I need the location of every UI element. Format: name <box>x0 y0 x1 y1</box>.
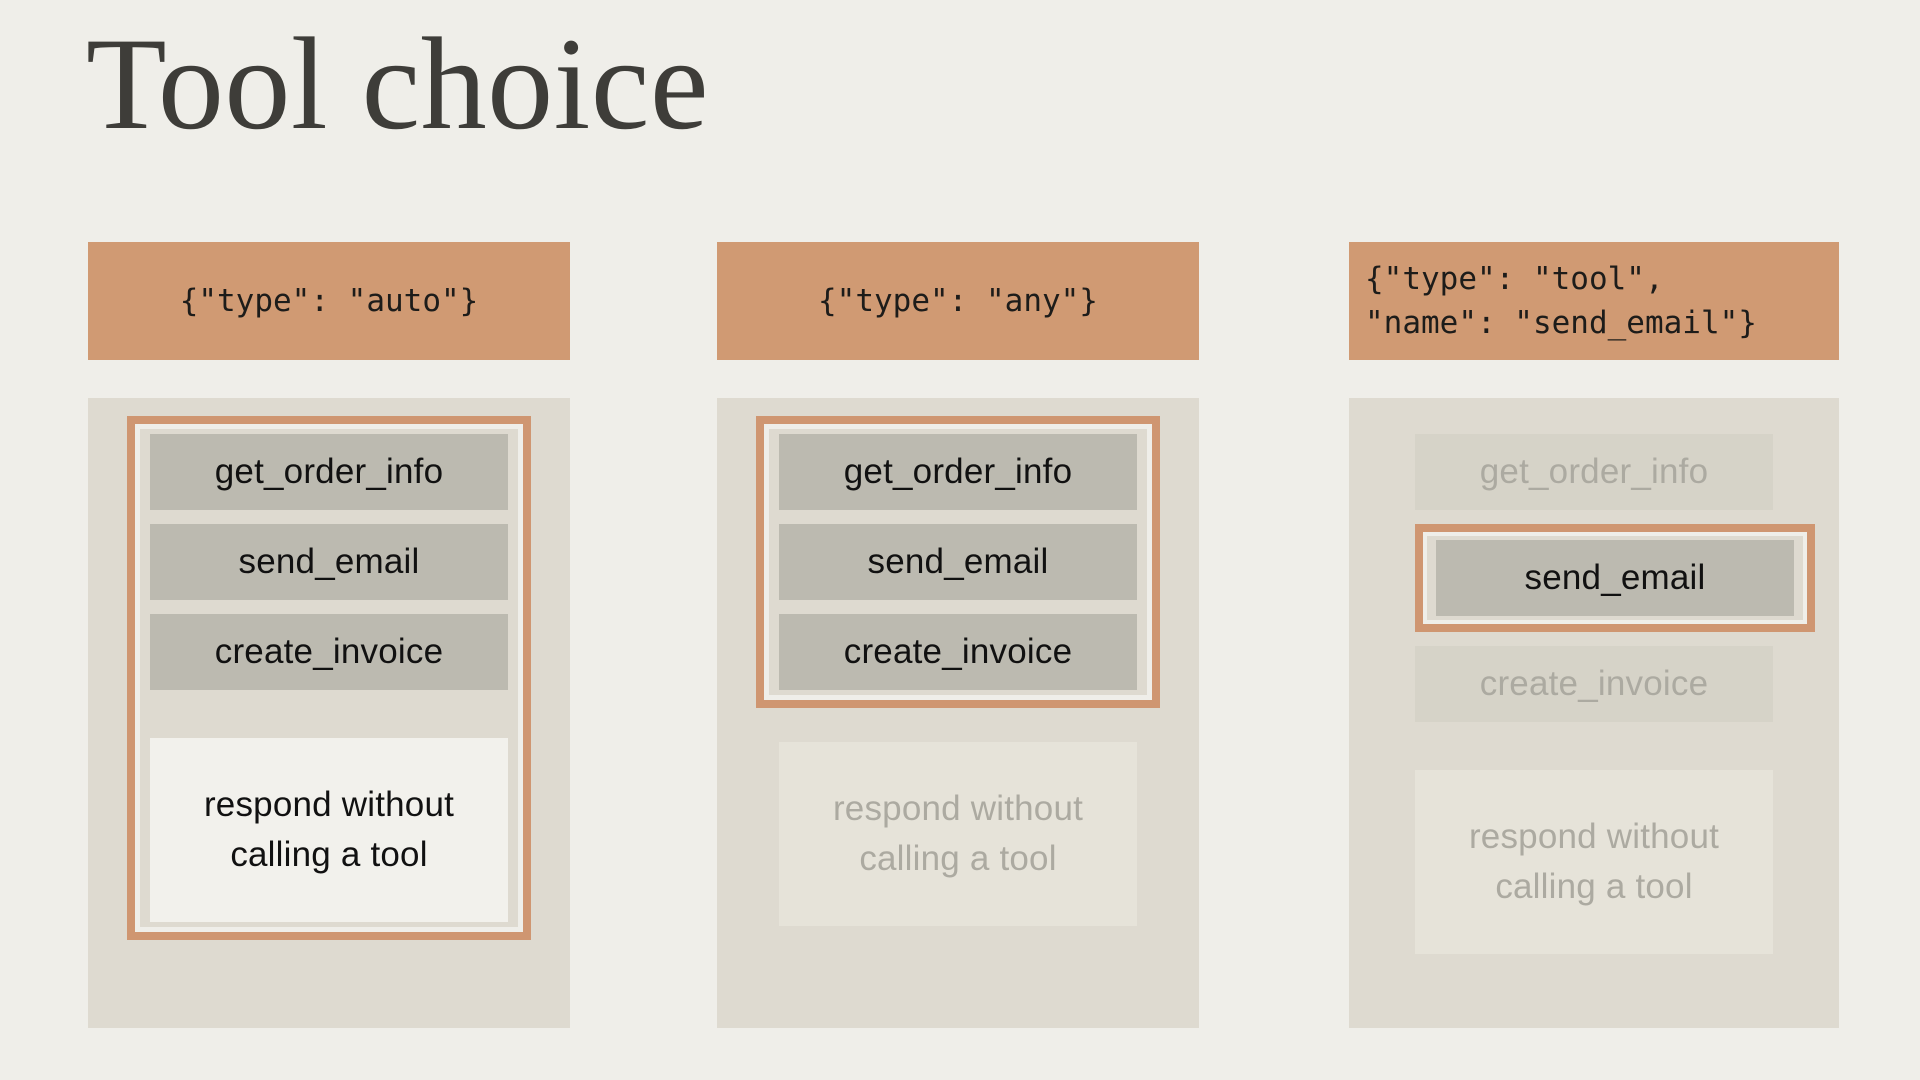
column-tool-header: {"type": "tool", "name": "send_email"} <box>1349 242 1839 360</box>
tool-chip-create-invoice[interactable]: create_invoice <box>150 614 508 690</box>
respond-without-tool-box[interactable]: respond without calling a tool <box>150 738 508 922</box>
tool-chip-send-email[interactable]: send_email <box>779 524 1137 600</box>
column-any-header-line-1: {"type": "any"} <box>818 279 1098 323</box>
page-title: Tool choice <box>86 18 709 150</box>
tool-chip-create-invoice[interactable]: create_invoice <box>779 614 1137 690</box>
column-auto-panel: get_order_info send_email create_invoice… <box>88 398 570 1028</box>
tool-choice-columns: {"type": "auto"} get_order_info send_ema… <box>0 242 1920 1042</box>
tool-chip-send-email[interactable]: send_email <box>1436 540 1794 616</box>
column-any: {"type": "any"} get_order_info send_emai… <box>717 242 1199 1028</box>
tool-chip-get-order-info[interactable]: get_order_info <box>779 434 1137 510</box>
respond-without-tool-box: respond without calling a tool <box>779 742 1137 926</box>
spacer <box>1415 736 1773 770</box>
column-any-header: {"type": "any"} <box>717 242 1199 360</box>
tool-chip-send-email[interactable]: send_email <box>150 524 508 600</box>
column-tool-panel: get_order_info send_email create_invoice… <box>1349 398 1839 1028</box>
column-tool: {"type": "tool", "name": "send_email"} g… <box>1349 242 1839 1028</box>
respond-line-2: calling a tool <box>859 834 1056 884</box>
tool-chip-get-order-info: get_order_info <box>1415 434 1773 510</box>
spacer <box>1415 632 1773 646</box>
respond-line-1: respond without <box>833 784 1083 834</box>
column-tool-highlight-ring: send_email <box>1415 524 1815 632</box>
respond-without-tool-box: respond without calling a tool <box>1415 770 1773 954</box>
respond-line-2: calling a tool <box>1495 862 1692 912</box>
respond-line-1: respond without <box>1469 812 1719 862</box>
column-auto: {"type": "auto"} get_order_info send_ema… <box>88 242 570 1028</box>
spacer <box>150 704 508 738</box>
respond-line-1: respond without <box>204 780 454 830</box>
column-any-highlight-ring: get_order_info send_email create_invoice <box>756 416 1160 708</box>
tool-chip-get-order-info[interactable]: get_order_info <box>150 434 508 510</box>
column-auto-header-line-1: {"type": "auto"} <box>180 279 479 323</box>
respond-line-2: calling a tool <box>230 830 427 880</box>
column-tool-list: get_order_info send_email create_invoice… <box>1392 416 1796 972</box>
column-tool-header-line-1: {"type": "tool", <box>1365 257 1664 301</box>
spacer <box>717 708 1199 742</box>
column-auto-header: {"type": "auto"} <box>88 242 570 360</box>
column-any-panel: get_order_info send_email create_invoice… <box>717 398 1199 1028</box>
column-tool-header-line-2: "name": "send_email"} <box>1365 301 1757 345</box>
column-auto-highlight-ring: get_order_info send_email create_invoice… <box>127 416 531 940</box>
tool-chip-create-invoice: create_invoice <box>1415 646 1773 722</box>
